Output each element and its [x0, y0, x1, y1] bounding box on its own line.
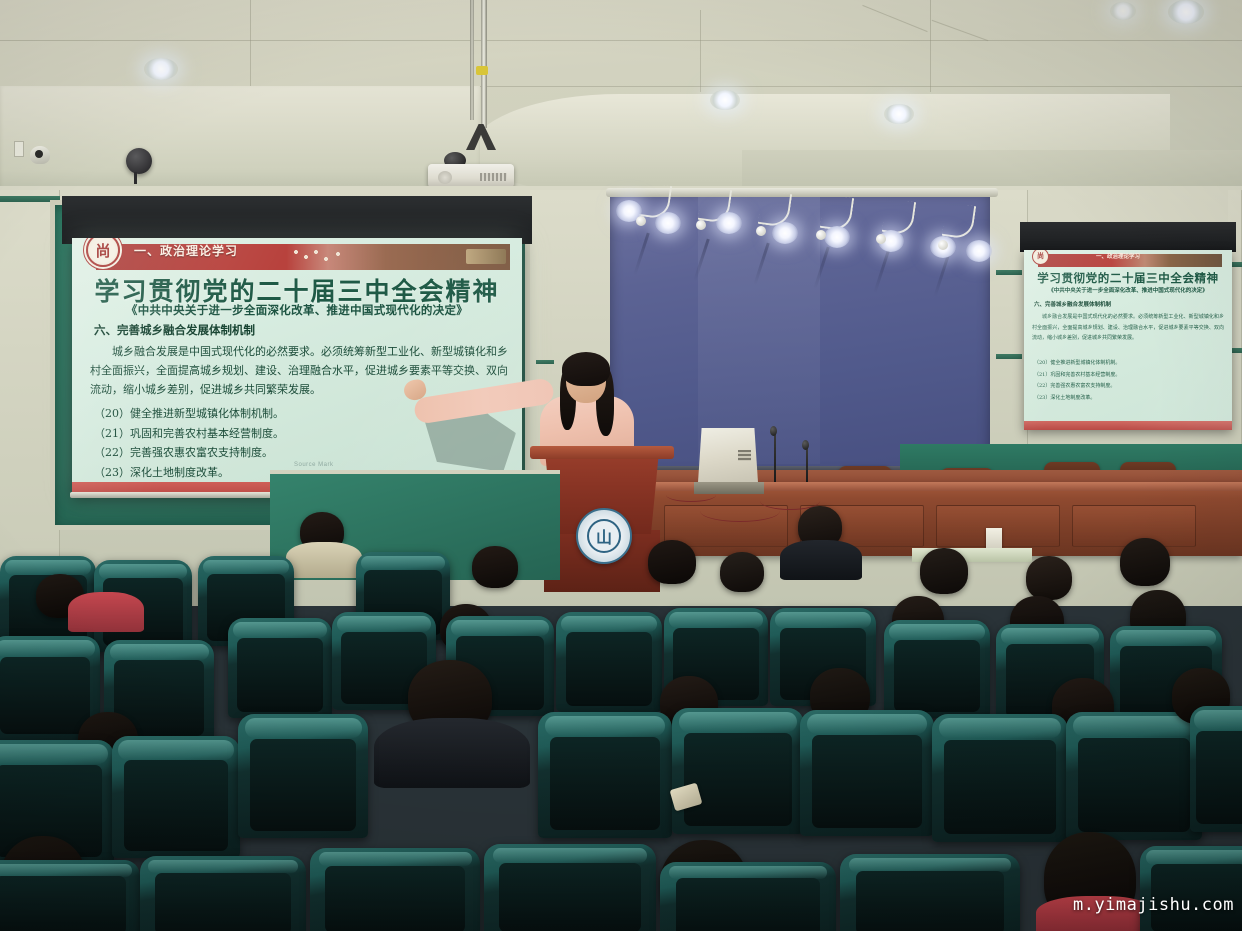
wall-accent-stripe	[536, 360, 554, 364]
podium-emblem-letter: 山	[587, 519, 621, 553]
stage-spotlight-icon	[966, 240, 992, 262]
ceiling-downlight-icon	[1168, 0, 1204, 24]
watermark: m.yimajishu.com	[1073, 895, 1234, 915]
gooseneck-light-head	[696, 220, 706, 230]
auditorium-seat[interactable]	[140, 856, 306, 931]
projector-pole	[481, 0, 487, 128]
wall-speaker-mount	[134, 172, 137, 184]
wall-accent-stripe	[1232, 348, 1242, 353]
ceiling-downlight-icon	[1110, 2, 1136, 20]
gooseneck-light-head	[938, 240, 948, 250]
auditorium-seat[interactable]	[932, 714, 1068, 842]
secondary-slide-section: 六、完善城乡融合发展体制机制	[1034, 300, 1111, 308]
auditorium-seat[interactable]	[238, 714, 368, 838]
auditorium-seat[interactable]	[310, 848, 480, 931]
projector-vent	[480, 173, 507, 181]
gooseneck-light-head	[816, 230, 826, 240]
wall-accent-stripe	[1232, 262, 1242, 267]
auditorium-seat[interactable]	[484, 844, 656, 931]
gooseneck-light-head	[876, 234, 886, 244]
wall-accent-stripe	[996, 354, 1022, 359]
gooseneck-light-head	[756, 226, 766, 236]
projector-pole	[470, 0, 474, 120]
banner-pattern-icon	[292, 248, 352, 266]
audience-head	[472, 546, 518, 588]
auditorium-seat[interactable]	[660, 862, 836, 931]
projector-pole-tag	[476, 66, 488, 75]
desk-microphone-stem	[806, 448, 808, 482]
slide-paragraph: 城乡融合发展是中国式现代化的必然要求。必须统筹新型工业化、新型城镇化和乡村全面振…	[90, 342, 508, 399]
gooseneck-light-head	[636, 216, 646, 226]
crt-monitor	[698, 428, 758, 490]
wall-camera-icon	[30, 146, 50, 164]
secondary-slide-subtitle: 《中共中央关于进一步全面深化改革、推进中国式现代化的决定》	[1024, 286, 1232, 294]
slide-banner-label: 一、政治理论学习	[134, 242, 238, 259]
slide-subtitle: 《中共中央关于进一步全面深化改革、推进中国式现代化的决定》	[72, 302, 522, 318]
audience-shoulders	[286, 542, 362, 578]
desk-microphone-icon[interactable]	[770, 426, 777, 436]
ceiling-downlight-icon	[884, 104, 914, 124]
auditorium-seat[interactable]	[840, 854, 1020, 931]
auditorium-seat[interactable]	[1066, 712, 1202, 840]
audience-shoulders	[780, 540, 862, 580]
secondary-slide-list-item: （21）巩固和完善农村基本经营制度。	[1034, 370, 1222, 382]
auditorium-seat[interactable]	[1190, 706, 1242, 832]
auditorium-seat[interactable]	[884, 620, 990, 718]
audience-head	[1120, 538, 1170, 586]
podium-top	[530, 446, 674, 459]
stage-curtain-center	[698, 196, 820, 464]
secondary-slide-paragraph: 城乡融合发展是中国式现代化的必然要求。必须统筹新型工业化、新型城镇化和乡村全面振…	[1032, 312, 1224, 344]
secondary-slide-list-item: （22）完善强农惠农富农支持制度。	[1034, 381, 1222, 393]
podium-emblem: 山	[576, 508, 632, 564]
wall-accent-stripe	[996, 270, 1022, 275]
stage-desk-top	[560, 482, 1242, 491]
presenter-hair	[562, 352, 610, 386]
secondary-slide-banner-label: 一、政治理论学习	[1096, 252, 1140, 260]
ceiling-soffit	[0, 86, 480, 198]
wall-junction-box	[14, 141, 24, 157]
secondary-slide-list-item: （20）健全推进新型城镇化体制机制。	[1034, 358, 1222, 370]
projection-screen-housing	[62, 196, 532, 244]
stage-spotlight-icon	[772, 222, 798, 244]
audience-head	[648, 540, 696, 584]
secondary-slide-title: 学习贯彻党的二十届三中全会精神	[1024, 270, 1232, 286]
cable	[666, 488, 716, 502]
ceiling-downlight-icon	[710, 90, 740, 110]
secondary-slide-list-item: （23）深化土地制度改革。	[1034, 393, 1222, 405]
secondary-slide-footer-bar	[1024, 421, 1232, 430]
audience-shoulders	[68, 592, 144, 632]
banner-logo-icon	[466, 249, 506, 264]
secondary-projection-screen[interactable]: 尚 一、政治理论学习 学习贯彻党的二十届三中全会精神 《中共中央关于进一步全面深…	[1024, 250, 1232, 430]
secondary-screen-housing	[1020, 222, 1236, 252]
audience-head	[1026, 556, 1072, 600]
auditorium-seat[interactable]	[112, 736, 240, 858]
desk-microphone-icon[interactable]	[802, 440, 809, 450]
auditorium-seat[interactable]	[556, 612, 662, 712]
slide-footer-mark: Source Mark	[294, 462, 334, 468]
auditorium-seat[interactable]	[0, 860, 140, 931]
secondary-slide-item-list: （20）健全推进新型城镇化体制机制。 （21）巩固和完善农村基本经营制度。 （2…	[1034, 358, 1222, 404]
auditorium-seat[interactable]	[228, 618, 332, 718]
audience-head	[720, 552, 764, 592]
ceiling-downlight-icon	[144, 58, 178, 80]
auditorium-seat[interactable]	[1140, 846, 1242, 931]
audience-head	[920, 548, 968, 594]
desk-microphone-stem	[774, 434, 776, 482]
stage-spotlight-icon	[716, 212, 742, 234]
auditorium-seat[interactable]	[672, 708, 804, 834]
wall-speaker-icon	[126, 148, 152, 174]
audience-shoulders	[374, 718, 530, 788]
slide-section-heading: 六、完善城乡融合发展体制机制	[94, 322, 255, 338]
cable	[700, 500, 780, 522]
stage-spotlight-icon	[824, 226, 850, 248]
monitor-vent	[738, 450, 751, 461]
auditorium-seat[interactable]	[800, 710, 934, 836]
stage-spotlight-icon	[655, 212, 681, 234]
lecture-hall-photo: 尚 一、政治理论学习 学习贯彻党的二十届三中全会精神 《中共中央关于进一步全面深…	[0, 0, 1242, 931]
auditorium-seat[interactable]	[538, 712, 672, 838]
